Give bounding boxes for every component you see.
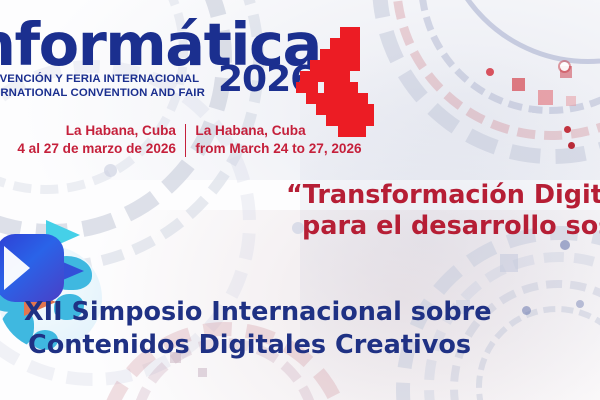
decorative-pixel	[500, 254, 518, 272]
decorative-pixel	[198, 368, 207, 377]
decorative-node	[486, 68, 494, 76]
slogan-line-1: “Transformación Digital	[286, 180, 600, 210]
event-details-english: La Habana, Cuba from March 24 to 27, 202…	[186, 122, 361, 159]
decorative-pixel	[538, 90, 553, 105]
dates-es: 4 al 27 de marzo de 2026	[0, 140, 176, 158]
decorative-pixel	[560, 66, 572, 78]
decorative-node	[576, 300, 584, 308]
symposium-line-2: Contenidos Digitales Creativos	[28, 329, 492, 362]
decorative-node	[564, 126, 571, 133]
location-en: La Habana, Cuba	[195, 122, 361, 140]
slogan-line-2: para el desarrollo sostenible”	[302, 211, 600, 242]
dates-en: from March 24 to 27, 2026	[195, 140, 361, 158]
decorative-node	[560, 62, 569, 71]
event-details-spanish: La Habana, Cuba 4 al 27 de marzo de 2026	[0, 122, 185, 159]
decorative-node	[568, 142, 575, 149]
event-details: La Habana, Cuba 4 al 27 de marzo de 2026…	[0, 122, 378, 159]
decorative-node	[104, 164, 117, 177]
location-es: La Habana, Cuba	[0, 122, 176, 140]
decorative-pixel	[566, 96, 576, 106]
decorative-arc	[438, 0, 600, 64]
symposium-title: XII Simposio Internacional sobre Conteni…	[24, 296, 492, 362]
decorative-arc	[358, 0, 600, 174]
decorative-pixel	[512, 78, 525, 91]
event-banner: nformática CONVENCIÓN Y FERIA INTERNACIO…	[0, 0, 600, 400]
event-slogan: “Transformación Digital para el desarrol…	[286, 180, 600, 243]
pixel-star-icon	[296, 27, 380, 137]
symposium-line-1: XII Simposio Internacional sobre	[24, 297, 492, 327]
decorative-node	[522, 306, 531, 315]
decorative-arc	[401, 0, 600, 131]
